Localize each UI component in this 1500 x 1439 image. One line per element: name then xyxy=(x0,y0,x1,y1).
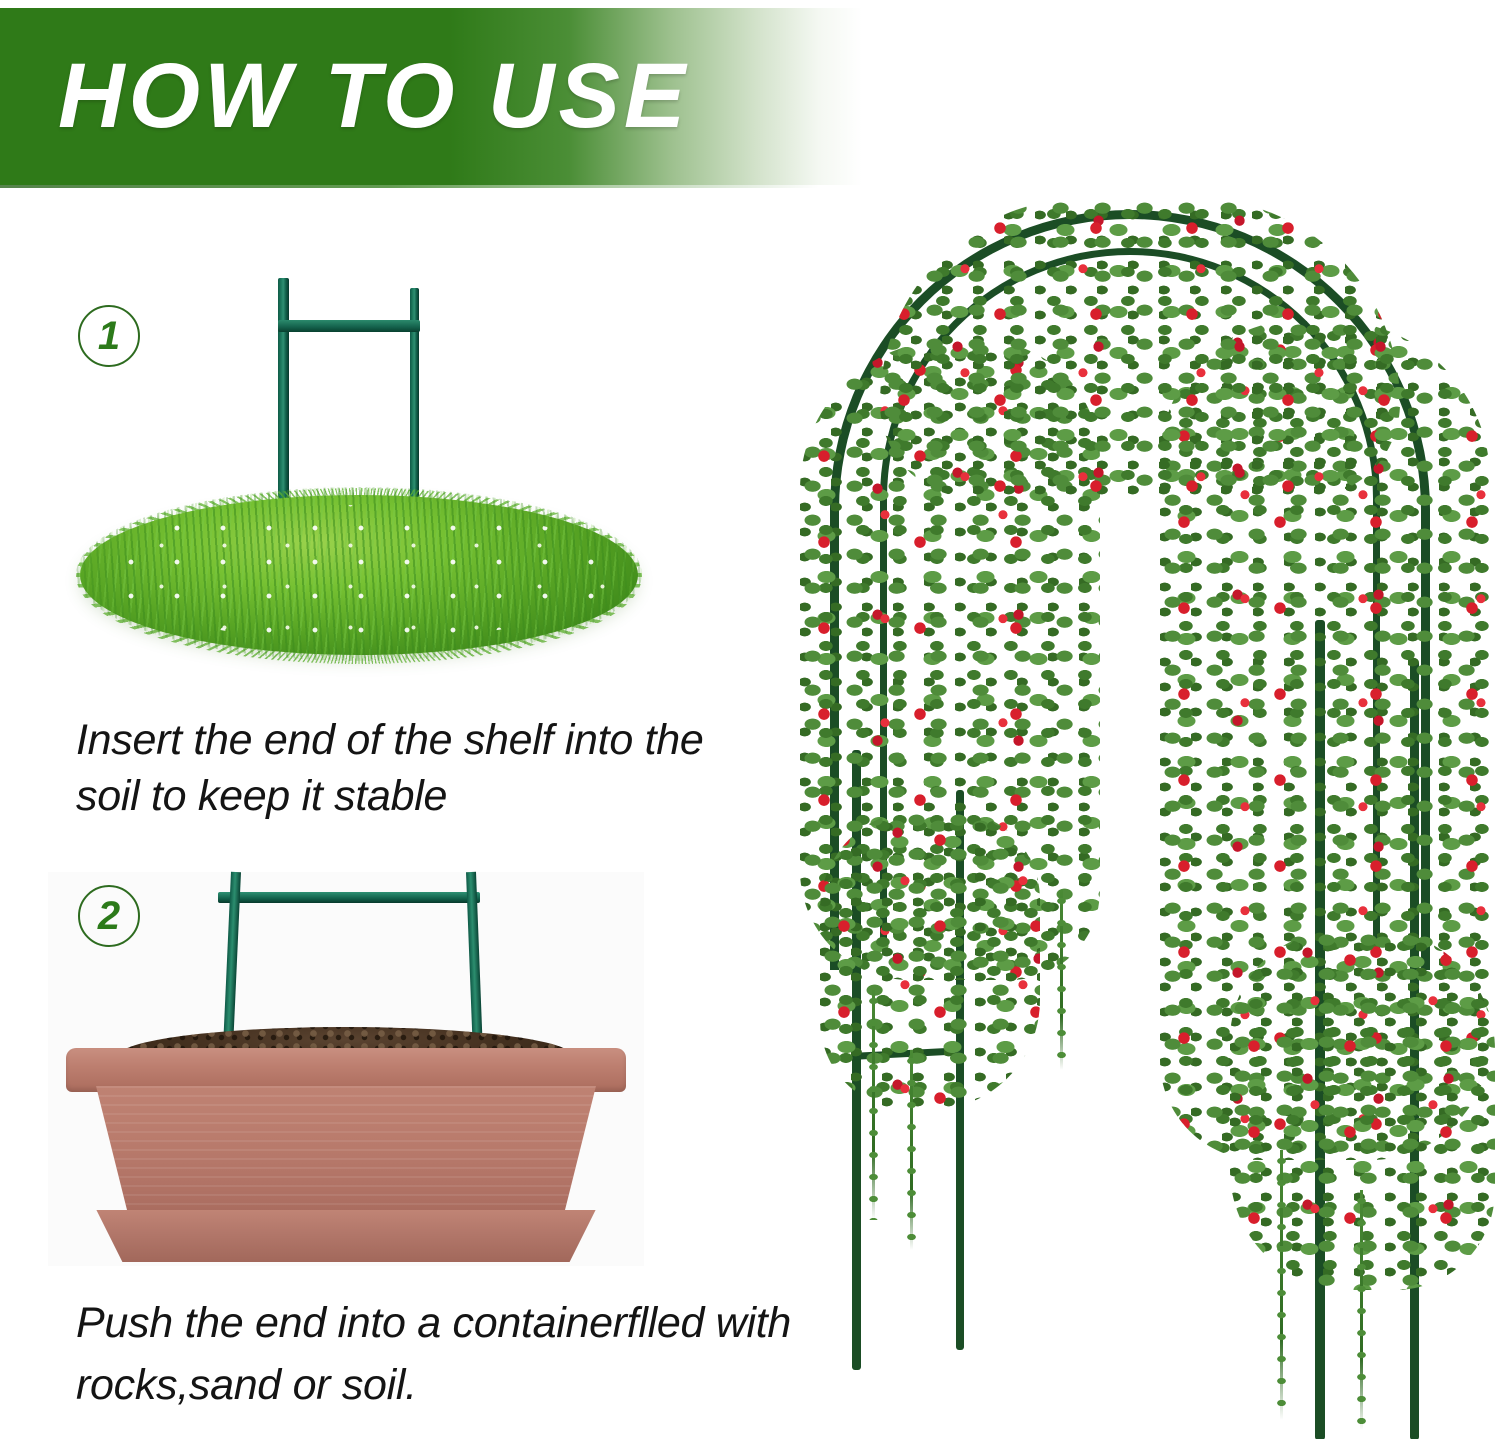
step-2-image xyxy=(48,872,644,1266)
trellis-crossbar-icon xyxy=(278,320,420,332)
step-1-badge: 1 xyxy=(78,305,140,367)
trailing-vine xyxy=(1280,1150,1283,1420)
hero-rose-arch-image xyxy=(760,190,1500,1439)
step-1-number: 1 xyxy=(98,316,120,356)
step-2-caption: Push the end into a containerflled with … xyxy=(76,1292,866,1416)
planter-rim xyxy=(66,1048,626,1092)
page-title: HOW TO USE xyxy=(58,46,689,146)
step-1-image xyxy=(70,270,650,670)
arch-foliage-crown xyxy=(880,198,1400,498)
trailing-vine xyxy=(1060,890,1063,1070)
planter-trellis-pole-right-icon xyxy=(466,872,483,1054)
trailing-vine xyxy=(872,990,875,1220)
planter-saucer-tray xyxy=(86,1210,606,1262)
step-2-number: 2 xyxy=(98,896,120,936)
planter-trellis-crossbar-icon xyxy=(218,892,480,903)
how-to-use-banner: HOW TO USE xyxy=(0,8,862,185)
arch-foliage-left-drape xyxy=(820,810,1040,1110)
step-2-badge: 2 xyxy=(78,885,140,947)
step-1-caption: Insert the end of the shelf into the soi… xyxy=(76,712,776,824)
trailing-vine xyxy=(1360,1190,1363,1430)
grass-mound xyxy=(80,495,638,655)
trailing-vine xyxy=(910,1050,913,1250)
